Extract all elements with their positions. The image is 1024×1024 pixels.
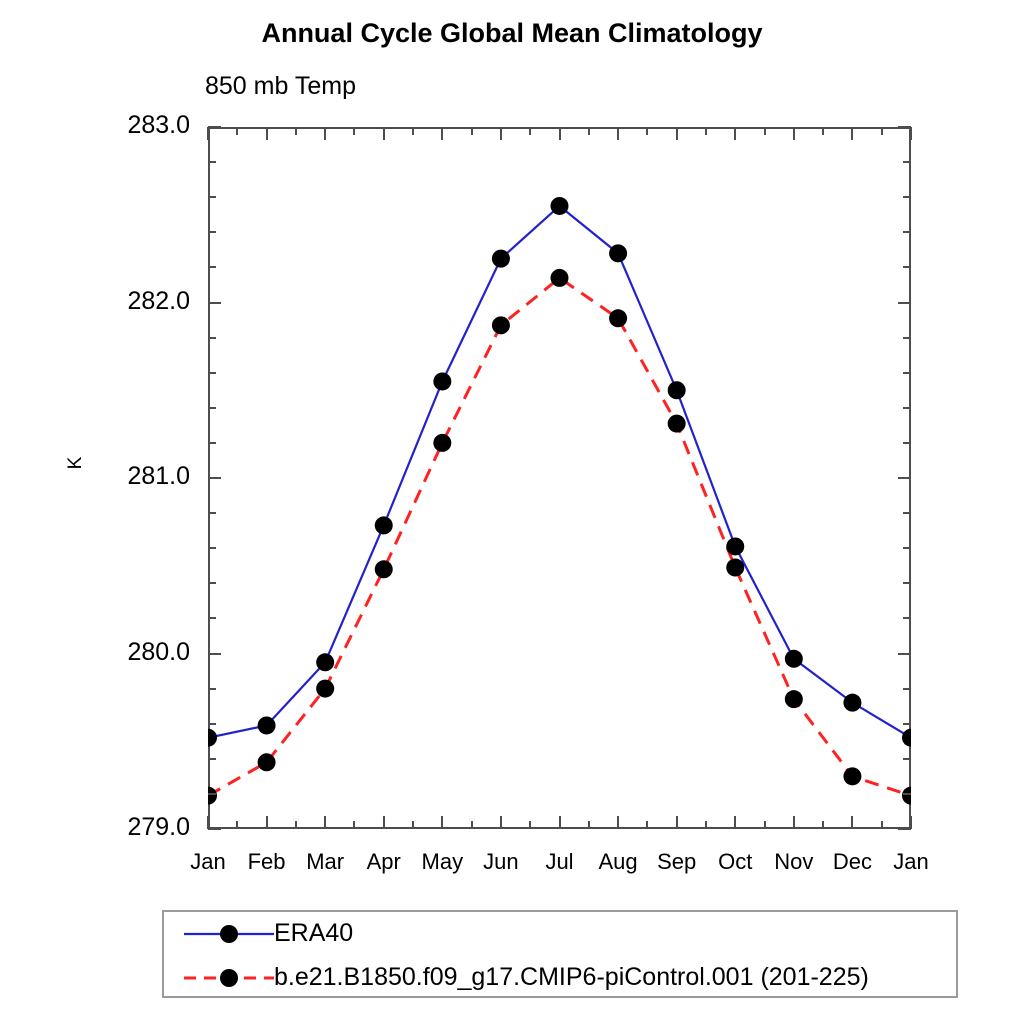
x-tick-major xyxy=(266,127,268,140)
x-tick-major xyxy=(559,127,561,140)
y-tick-major xyxy=(898,653,911,655)
x-tick-major xyxy=(324,816,326,829)
x-tick-minor xyxy=(822,821,824,829)
data-point xyxy=(551,197,569,215)
y-tick-major xyxy=(208,126,221,128)
x-tick-major xyxy=(910,127,912,140)
y-tick-major xyxy=(208,477,221,479)
x-tick-minor xyxy=(353,821,355,829)
y-tick-label: 281.0 xyxy=(50,462,190,491)
y-tick-major xyxy=(898,477,911,479)
legend-marker xyxy=(220,969,238,987)
y-tick-minor xyxy=(903,617,911,619)
y-tick-minor xyxy=(208,337,216,339)
y-tick-minor xyxy=(903,372,911,374)
x-tick-minor xyxy=(295,127,297,135)
y-tick-label: 279.0 xyxy=(50,813,190,842)
y-tick-minor xyxy=(208,547,216,549)
data-point xyxy=(492,250,510,268)
x-tick-major xyxy=(500,127,502,140)
data-point xyxy=(433,372,451,390)
y-tick-minor xyxy=(208,582,216,584)
x-tick-minor xyxy=(236,821,238,829)
y-tick-label: 280.0 xyxy=(50,638,190,667)
chart-page: Annual Cycle Global Mean Climatology 850… xyxy=(0,0,1024,1024)
x-tick-minor xyxy=(412,821,414,829)
y-tick-minor xyxy=(208,196,216,198)
x-tick-minor xyxy=(529,821,531,829)
series-line-1 xyxy=(208,278,911,796)
x-tick-minor xyxy=(881,127,883,135)
data-point xyxy=(726,559,744,577)
x-tick-minor xyxy=(646,821,648,829)
data-point xyxy=(492,316,510,334)
x-tick-minor xyxy=(471,127,473,135)
y-tick-major xyxy=(208,653,221,655)
x-tick-major xyxy=(441,816,443,829)
legend: ERA40 b.e21.B1850.f09_g17.CMIP6-piContro… xyxy=(162,910,958,998)
x-tick-major xyxy=(851,127,853,140)
y-tick-minor xyxy=(903,723,911,725)
y-tick-major xyxy=(208,828,221,830)
data-point xyxy=(258,716,276,734)
y-tick-minor xyxy=(208,161,216,163)
x-tick-major xyxy=(910,816,912,829)
data-point xyxy=(668,381,686,399)
y-tick-minor xyxy=(208,266,216,268)
x-tick-major xyxy=(500,816,502,829)
y-tick-minor xyxy=(903,161,911,163)
x-tick-major xyxy=(851,816,853,829)
y-tick-minor xyxy=(903,793,911,795)
y-tick-minor xyxy=(903,231,911,233)
x-tick-major xyxy=(793,816,795,829)
x-tick-major xyxy=(324,127,326,140)
data-point xyxy=(902,729,911,747)
x-tick-major xyxy=(676,816,678,829)
x-tick-major xyxy=(793,127,795,140)
x-tick-minor xyxy=(822,127,824,135)
data-point xyxy=(551,269,569,287)
y-tick-minor xyxy=(903,266,911,268)
data-point xyxy=(726,537,744,555)
data-point xyxy=(609,244,627,262)
y-tick-minor xyxy=(903,547,911,549)
x-tick-minor xyxy=(764,821,766,829)
x-tick-major xyxy=(441,127,443,140)
data-point xyxy=(609,309,627,327)
x-tick-minor xyxy=(764,127,766,135)
legend-label-1: b.e21.B1850.f09_g17.CMIP6-piControl.001 … xyxy=(274,963,869,992)
legend-marker xyxy=(220,925,238,943)
x-tick-major xyxy=(734,816,736,829)
y-tick-minor xyxy=(208,723,216,725)
chart-subtitle: 850 mb Temp xyxy=(205,72,356,101)
data-point xyxy=(785,650,803,668)
y-tick-minor xyxy=(208,442,216,444)
y-tick-minor xyxy=(903,582,911,584)
x-tick-major xyxy=(266,816,268,829)
data-point xyxy=(316,653,334,671)
legend-item-cesm[interactable]: b.e21.B1850.f09_g17.CMIP6-piControl.001 … xyxy=(164,956,956,1000)
y-tick-minor xyxy=(208,512,216,514)
y-tick-minor xyxy=(903,758,911,760)
data-point xyxy=(902,787,911,805)
x-tick-minor xyxy=(705,821,707,829)
y-tick-minor xyxy=(903,688,911,690)
legend-item-era40[interactable]: ERA40 xyxy=(164,912,956,956)
x-tick-minor xyxy=(646,127,648,135)
page-title: Annual Cycle Global Mean Climatology xyxy=(0,18,1024,49)
y-tick-label: 282.0 xyxy=(50,287,190,316)
y-tick-minor xyxy=(903,337,911,339)
y-tick-minor xyxy=(208,372,216,374)
data-point xyxy=(785,690,803,708)
y-tick-minor xyxy=(208,231,216,233)
x-tick-minor xyxy=(588,821,590,829)
data-point xyxy=(375,560,393,578)
x-tick-minor xyxy=(295,821,297,829)
x-tick-minor xyxy=(529,127,531,135)
x-tick-major xyxy=(617,816,619,829)
data-point xyxy=(668,415,686,433)
x-tick-minor xyxy=(412,127,414,135)
y-tick-minor xyxy=(208,688,216,690)
data-point xyxy=(208,787,217,805)
data-point xyxy=(375,516,393,534)
x-tick-minor xyxy=(588,127,590,135)
x-tick-minor xyxy=(471,821,473,829)
data-point xyxy=(208,729,217,747)
x-tick-major xyxy=(207,127,209,140)
x-tick-minor xyxy=(353,127,355,135)
y-tick-minor xyxy=(903,512,911,514)
x-tick-major xyxy=(559,816,561,829)
plot-canvas xyxy=(208,127,911,829)
data-point xyxy=(843,694,861,712)
y-tick-minor xyxy=(208,758,216,760)
data-point xyxy=(316,680,334,698)
x-tick-major xyxy=(383,816,385,829)
legend-sample-line-1 xyxy=(184,956,274,1000)
x-tick-minor xyxy=(705,127,707,135)
y-tick-minor xyxy=(903,442,911,444)
x-tick-major xyxy=(207,816,209,829)
y-tick-minor xyxy=(208,617,216,619)
x-tick-minor xyxy=(236,127,238,135)
y-tick-minor xyxy=(903,407,911,409)
x-tick-major xyxy=(383,127,385,140)
legend-label-0: ERA40 xyxy=(274,919,353,948)
data-point xyxy=(433,434,451,452)
data-point xyxy=(258,753,276,771)
y-tick-minor xyxy=(208,793,216,795)
y-tick-label: 283.0 xyxy=(50,111,190,140)
x-tick-major xyxy=(734,127,736,140)
x-tick-major xyxy=(676,127,678,140)
x-tick-minor xyxy=(881,821,883,829)
y-tick-minor xyxy=(903,196,911,198)
y-tick-major xyxy=(898,302,911,304)
y-tick-minor xyxy=(208,407,216,409)
legend-sample-line-0 xyxy=(184,912,274,956)
x-tick-major xyxy=(617,127,619,140)
y-tick-major xyxy=(208,302,221,304)
data-point xyxy=(843,767,861,785)
x-tick-label: Jan xyxy=(866,849,956,875)
